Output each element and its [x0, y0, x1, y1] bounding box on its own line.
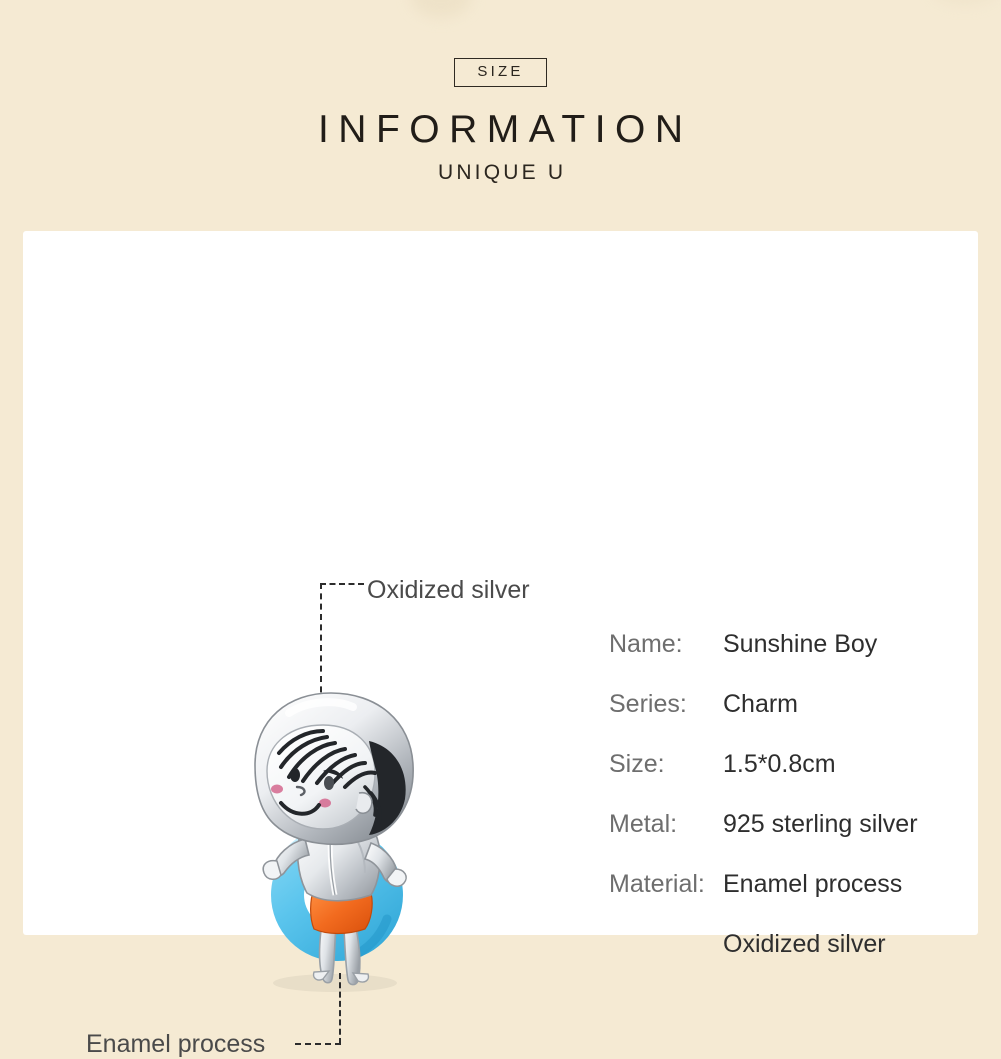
spec-row-metal: Metal: 925 sterling silver	[609, 809, 979, 869]
spec-value-name: Sunshine Boy	[723, 629, 877, 659]
spec-row-series: Series: Charm	[609, 689, 979, 749]
annotation-label-enamel-process: Enamel process	[86, 1029, 265, 1059]
spec-label-metal: Metal:	[609, 809, 723, 839]
spec-value-material: Enamel process	[723, 869, 902, 899]
spec-value-series: Charm	[723, 689, 798, 719]
spec-row-name: Name: Sunshine Boy	[609, 629, 979, 689]
spec-label-series: Series:	[609, 689, 723, 719]
product-charm-image	[219, 683, 451, 995]
header: SIZE INFORMATION UNIQUE U	[0, 0, 1001, 185]
spec-value-material-continued: Oxidized silver	[723, 929, 886, 959]
spec-value-size: 1.5*0.8cm	[723, 749, 836, 779]
spec-value-metal: 925 sterling silver	[723, 809, 918, 839]
spec-row-material-continued: Material: Oxidized silver	[609, 929, 979, 989]
spec-label-size: Size:	[609, 749, 723, 779]
leader-line-oxidized-horizontal	[320, 583, 364, 585]
page-subtitle: UNIQUE U	[0, 161, 1001, 185]
head	[255, 693, 413, 844]
spec-label-name: Name:	[609, 629, 723, 659]
size-badge: SIZE	[454, 58, 546, 87]
page-title: INFORMATION	[0, 108, 1001, 152]
spec-label-material: Material:	[609, 869, 723, 899]
spec-row-material: Material: Enamel process	[609, 869, 979, 929]
leader-line-enamel-horizontal	[295, 1043, 341, 1045]
spec-row-size: Size: 1.5*0.8cm	[609, 749, 979, 809]
annotation-label-oxidized-silver: Oxidized silver	[367, 575, 530, 605]
info-card: Oxidized silver Enamel process	[23, 231, 978, 935]
spec-list: Name: Sunshine Boy Series: Charm Size: 1…	[609, 629, 979, 989]
